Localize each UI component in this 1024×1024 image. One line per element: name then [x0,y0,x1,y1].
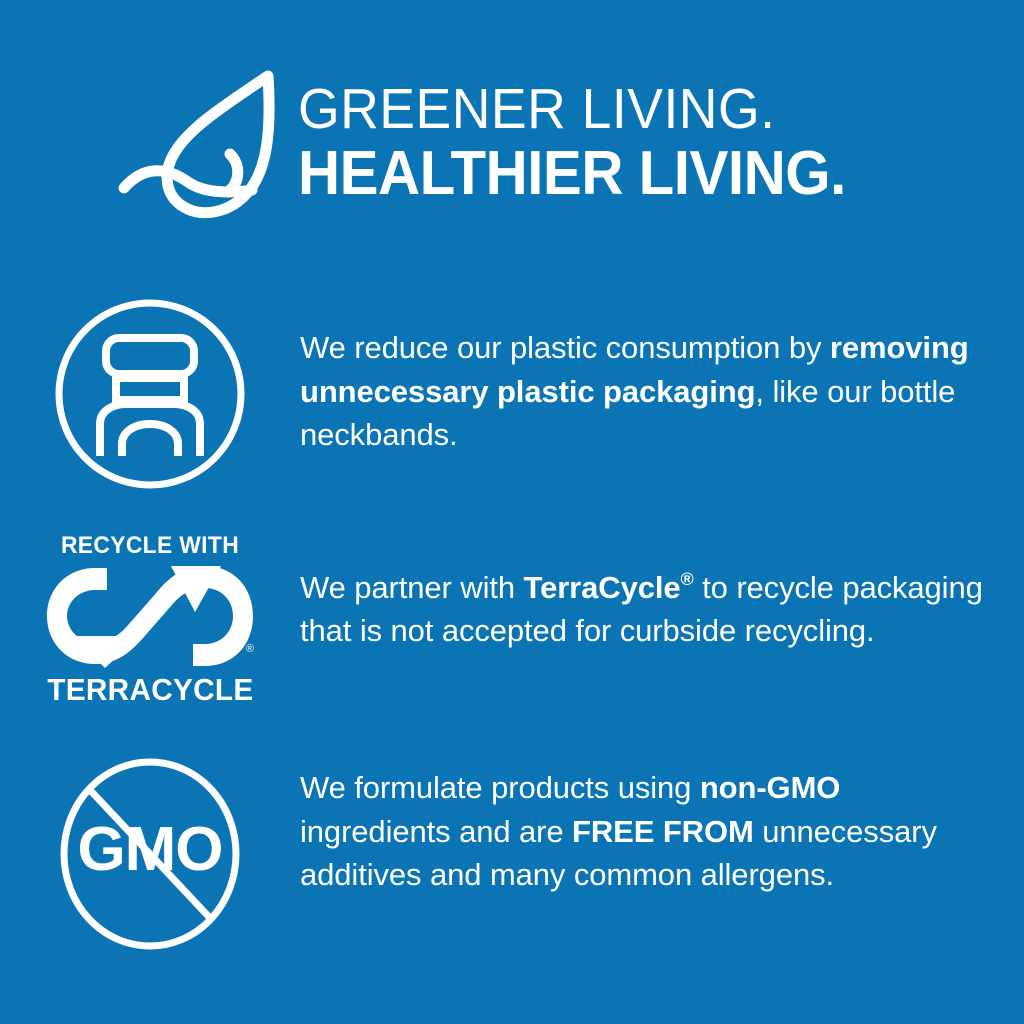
feature-text-terracycle: We partner with TerraCycle® to recycle p… [300,528,1024,653]
gmo-label: GMO [77,815,222,884]
terracycle-bottom-label: TERRACYCLE [47,672,252,708]
headline-line-2: HEALTHIER LIVING. [298,140,956,208]
body-text: We formulate products using [300,770,700,805]
recycle-infinity-loop-icon [43,562,257,670]
terracycle-registered-mark: ® [246,644,254,655]
feature-text-plastic-reduction: We reduce our plastic consumption by rem… [300,296,1024,457]
emphasis-text: FREE FROM [572,814,754,849]
headline-block: GREENER LIVING. HEALTHIER LIVING. [298,78,998,208]
feature-row-plastic-reduction: We reduce our plastic consumption by rem… [0,296,1024,506]
leaf-icon [108,72,298,224]
terracycle-top-label: RECYCLE WITH [48,532,251,560]
feature-icon-wrapper: GMO [0,748,300,954]
body-text: We reduce our plastic consumption by [300,330,830,365]
registered-mark: ® [681,569,694,589]
emphasis-text: TerraCycle [524,570,681,605]
body-text: ingredients and are [300,814,572,849]
emphasis-text: non-GMO [700,770,840,805]
greener-living-poster: GREENER LIVING. HEALTHIER LIVING. [0,0,1024,1024]
feature-row-terracycle: RECYCLE WITH ® TERRACYCLE [0,528,1024,718]
non-gmo-icon: GMO [50,754,250,954]
feature-text-non-gmo: We formulate products using non-GMO ingr… [300,748,1024,897]
bottle-neckband-icon [52,296,248,492]
header: GREENER LIVING. HEALTHIER LIVING. [0,0,1024,258]
feature-icon-wrapper [0,296,300,492]
feature-icon-wrapper: RECYCLE WITH ® TERRACYCLE [0,528,300,714]
body-text: We partner with [300,570,524,605]
terracycle-logo: RECYCLE WITH ® TERRACYCLE [43,532,257,714]
feature-row-non-gmo: GMO We formulate products using non-GMO … [0,748,1024,968]
headline-line-1: GREENER LIVING. [298,78,956,140]
